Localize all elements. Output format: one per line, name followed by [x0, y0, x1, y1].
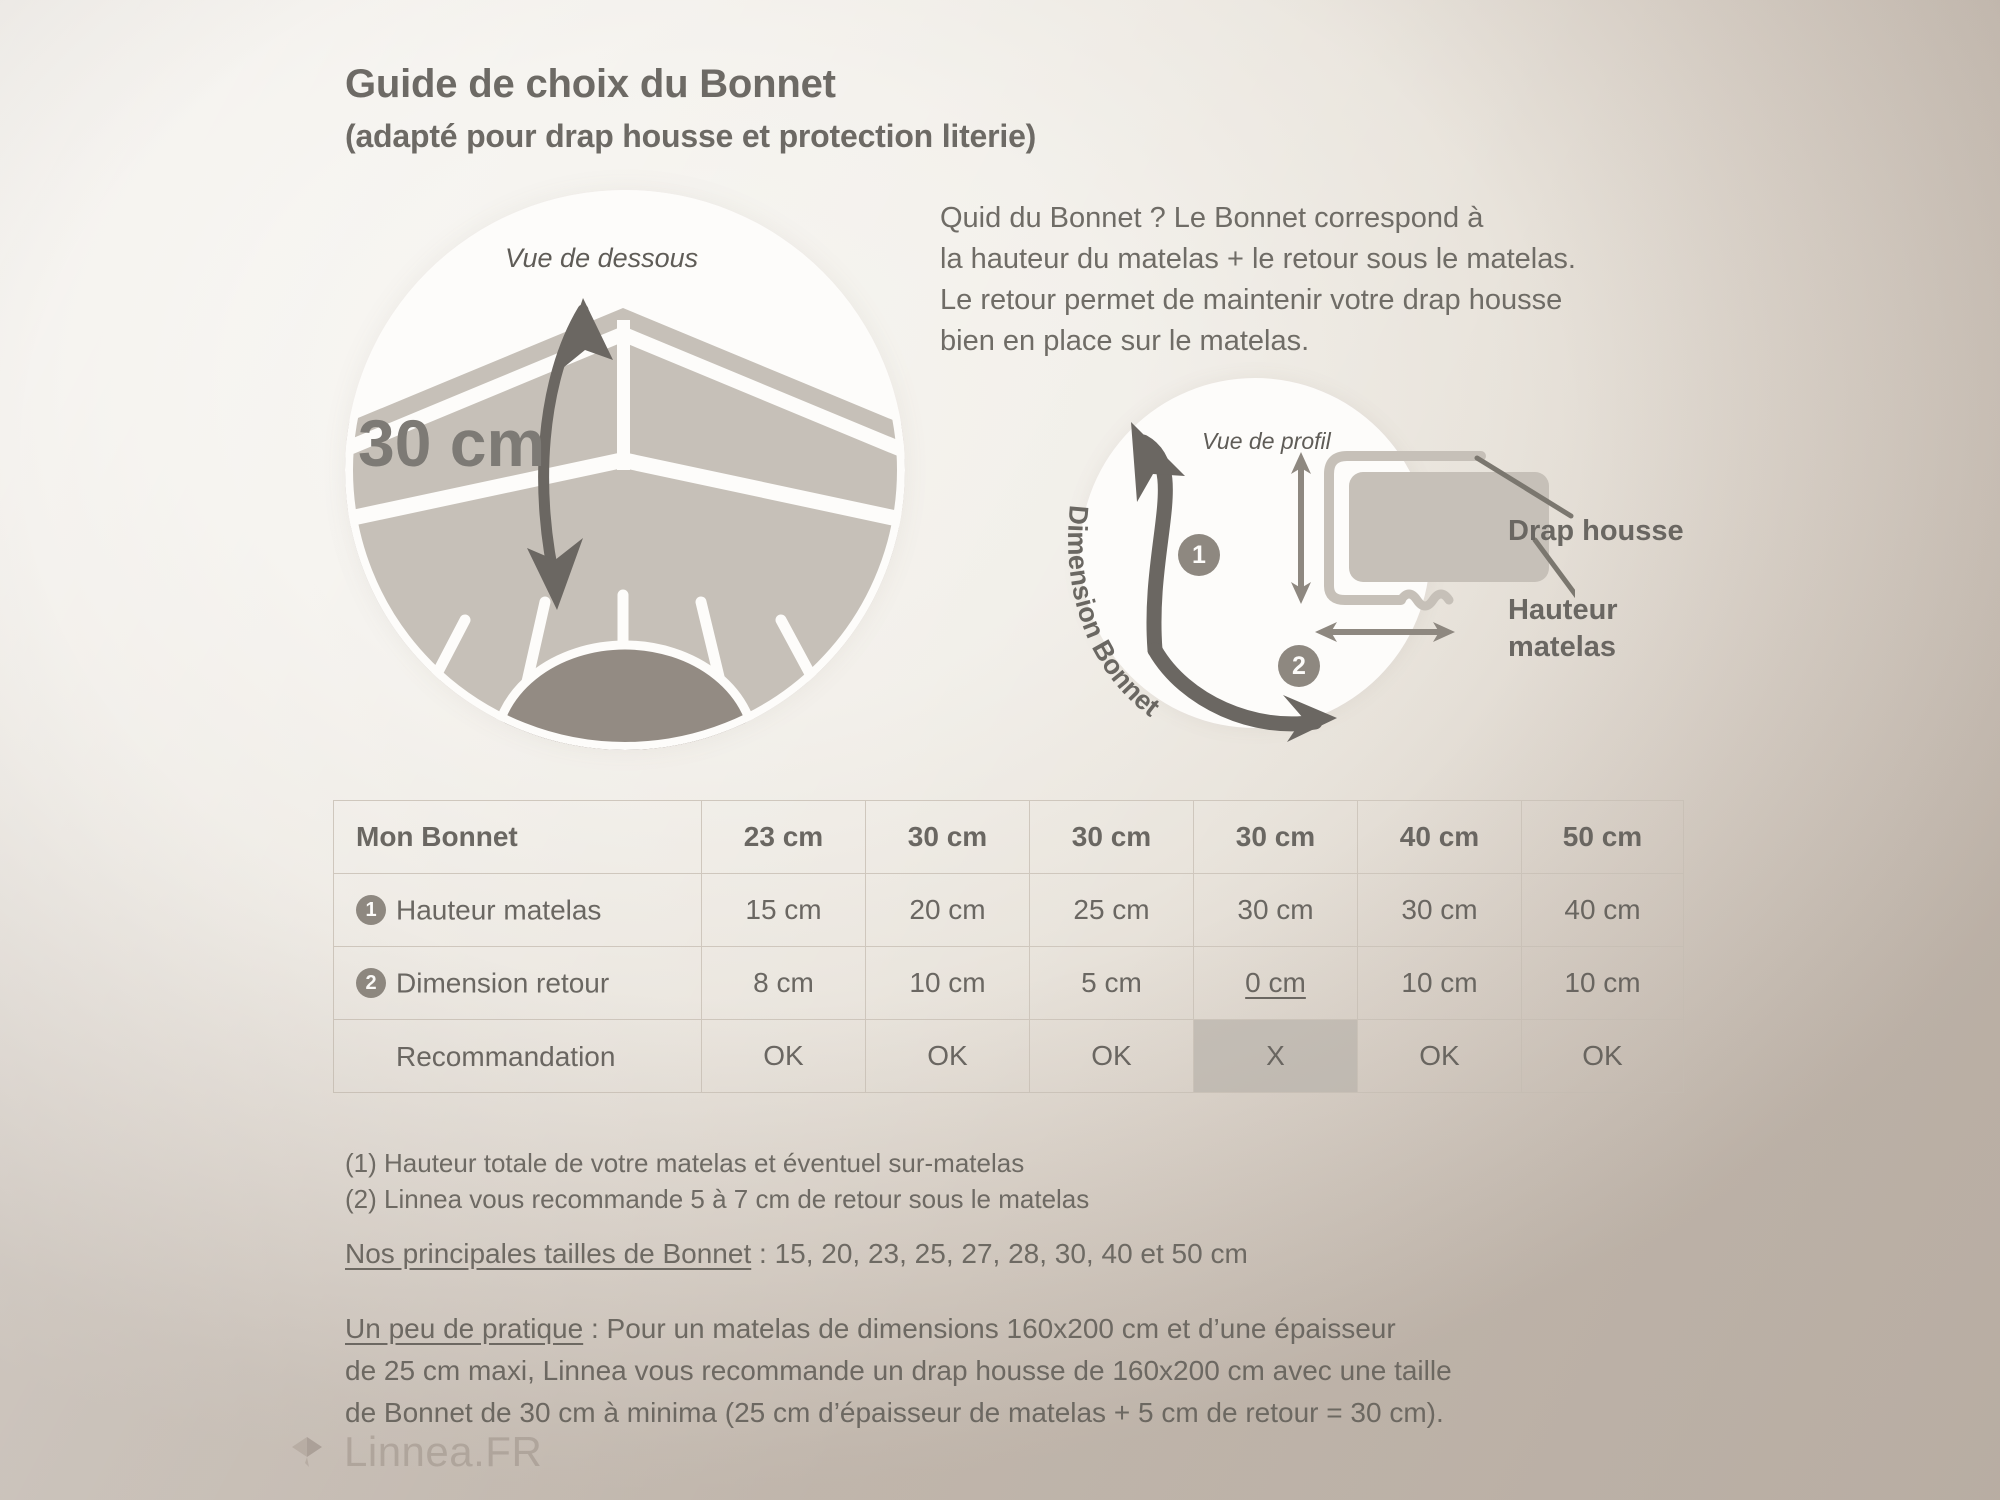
logo-text: Linnea.FR	[344, 1428, 542, 1476]
table-header-cell: 30 cm	[1030, 801, 1194, 874]
table-header-row: Mon Bonnet 23 cm 30 cm 30 cm 30 cm 40 cm…	[334, 801, 1684, 874]
table-cell: 5 cm	[1030, 947, 1194, 1020]
table-header-cell: 30 cm	[1194, 801, 1358, 874]
callout-hauteur-matelas-line1: Hauteur	[1508, 592, 1618, 629]
table-cell: OK	[1358, 1020, 1522, 1093]
table-cell: 30 cm	[1194, 874, 1358, 947]
sizes-paragraph: Nos principales tailles de Bonnet : 15, …	[345, 1238, 1248, 1270]
table-row-label: 1Hauteur matelas	[334, 874, 702, 947]
bottom-view-caption: Vue de dessous	[505, 243, 698, 274]
table-cell: 10 cm	[866, 947, 1030, 1020]
row-label-text: Recommandation	[396, 1041, 615, 1072]
footnote-2: (2) Linnea vous recommande 5 à 7 cm de r…	[345, 1181, 1089, 1217]
table-header-cell: 30 cm	[866, 801, 1030, 874]
table-row-label: Recommandation	[334, 1020, 702, 1093]
table-cell: 40 cm	[1522, 874, 1684, 947]
linnea-logo: Linnea.FR	[288, 1428, 542, 1476]
sizes-value: : 15, 20, 23, 25, 27, 28, 30, 40 et 50 c…	[751, 1238, 1248, 1269]
practice-line-2: de 25 cm maxi, Linnea vous recommande un…	[345, 1350, 1452, 1392]
table-cell: 25 cm	[1030, 874, 1194, 947]
intro-line: Quid du Bonnet ? Le Bonnet correspond à	[940, 198, 1700, 239]
table-cell: OK	[1522, 1020, 1684, 1093]
table-row-label: 2Dimension retour	[334, 947, 702, 1020]
profile-view-caption: Vue de profil	[1202, 428, 1331, 455]
diamond-icon	[288, 1431, 330, 1473]
page-title: Guide de choix du Bonnet	[345, 62, 836, 107]
table-cell: 30 cm	[1358, 874, 1522, 947]
callout-hauteur-matelas-line2: matelas	[1508, 629, 1618, 666]
intro-line: bien en place sur le matelas.	[940, 321, 1700, 362]
page-subtitle: (adapté pour drap housse et protection l…	[345, 118, 1036, 155]
table-header-cell: Mon Bonnet	[334, 801, 702, 874]
table-cell-highlighted: X	[1194, 1020, 1358, 1093]
svg-text:Dimension Bonnet: Dimension Bonnet	[1062, 504, 1165, 722]
row-marker-2: 2	[356, 968, 386, 998]
table-cell: 20 cm	[866, 874, 1030, 947]
intro-line: Le retour permet de maintenir votre drap…	[940, 280, 1700, 321]
table-header-cell: 40 cm	[1358, 801, 1522, 874]
table-cell-underlined: 0 cm	[1194, 947, 1358, 1020]
practice-label: Un peu de pratique	[345, 1313, 583, 1344]
infographic-canvas: Vue de dessous 30 cm	[0, 0, 2000, 1500]
intro-line: la hauteur du matelas + le retour sous l…	[940, 239, 1700, 280]
callout-drap-housse: Drap housse	[1508, 513, 1684, 550]
table-cell: OK	[866, 1020, 1030, 1093]
intro-paragraph: Quid du Bonnet ? Le Bonnet correspond à …	[940, 198, 1700, 362]
table-header-cell: 23 cm	[702, 801, 866, 874]
table-cell: 8 cm	[702, 947, 866, 1020]
sizes-label: Nos principales tailles de Bonnet	[345, 1238, 751, 1269]
table-cell: 15 cm	[702, 874, 866, 947]
table-cell: 10 cm	[1522, 947, 1684, 1020]
callout-hauteur-matelas: Hauteur matelas	[1508, 592, 1618, 666]
table-row: 1Hauteur matelas 15 cm 20 cm 25 cm 30 cm…	[334, 874, 1684, 947]
footnote-1: (1) Hauteur totale de votre matelas et é…	[345, 1145, 1089, 1181]
practice-text: : Pour un matelas de dimensions 160x200 …	[583, 1313, 1395, 1344]
row-label-text: Dimension retour	[396, 968, 609, 999]
bonnet-table: Mon Bonnet 23 cm 30 cm 30 cm 30 cm 40 cm…	[333, 800, 1683, 1093]
footnotes: (1) Hauteur totale de votre matelas et é…	[345, 1145, 1089, 1217]
row-label-text: Hauteur matelas	[396, 895, 601, 926]
practice-paragraph: Un peu de pratique : Pour un matelas de …	[345, 1308, 1452, 1434]
dimension-bonnet-arc-label: Dimension Bonnet	[1015, 350, 1575, 820]
table-cell: 10 cm	[1358, 947, 1522, 1020]
row-marker-1: 1	[356, 895, 386, 925]
table-cell: OK	[1030, 1020, 1194, 1093]
bottom-view-measure-label: 30 cm	[358, 405, 545, 481]
table-row: 2Dimension retour 8 cm 10 cm 5 cm 0 cm 1…	[334, 947, 1684, 1020]
table-header-cell: 50 cm	[1522, 801, 1684, 874]
practice-line-1: Un peu de pratique : Pour un matelas de …	[345, 1308, 1452, 1350]
table-row: Recommandation OK OK OK X OK OK	[334, 1020, 1684, 1093]
table-cell: OK	[702, 1020, 866, 1093]
